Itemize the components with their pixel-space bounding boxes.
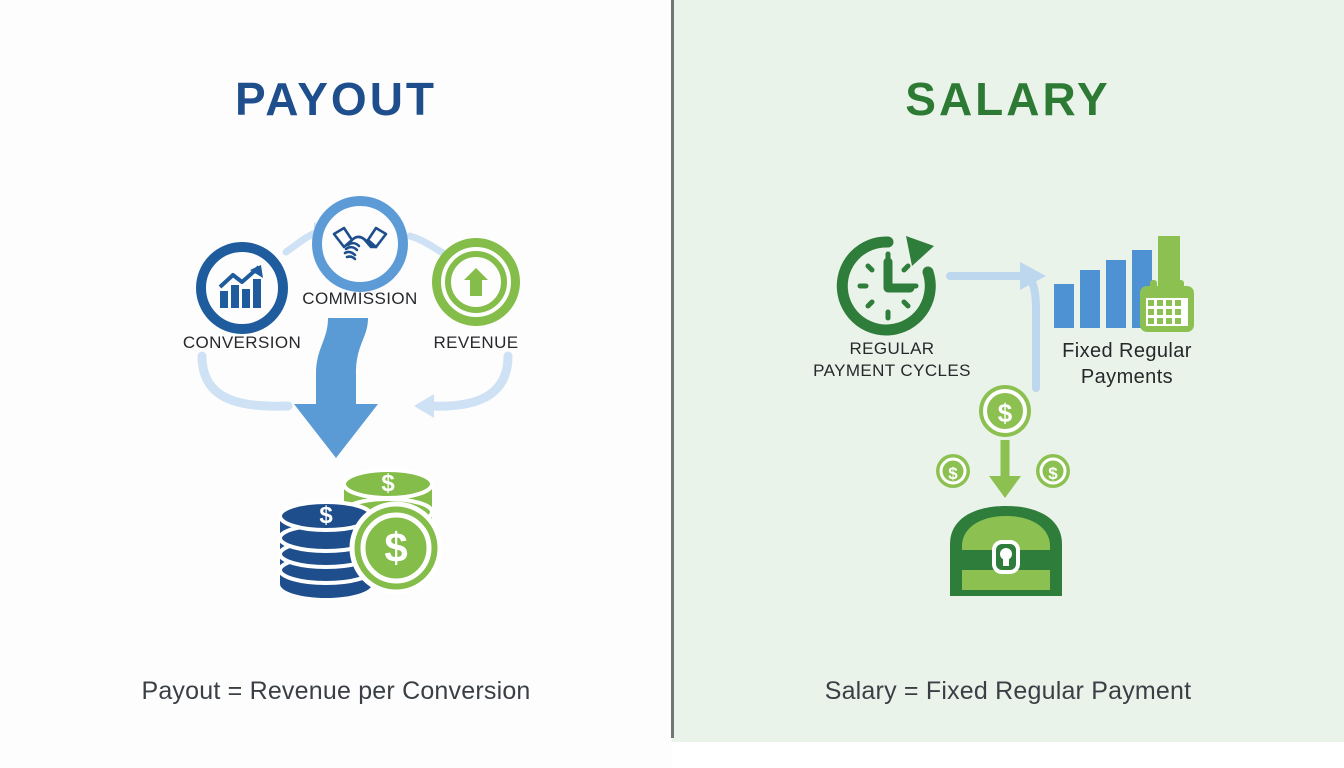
bar-chart-growth-icon bbox=[217, 265, 267, 311]
label-fixed-regular-payments: Fixed Regular Payments bbox=[1044, 338, 1210, 391]
node-commission bbox=[312, 196, 408, 292]
clock-cycle-icon bbox=[834, 232, 942, 336]
page-title-salary: SALARY bbox=[672, 72, 1344, 126]
svg-text:$: $ bbox=[1048, 464, 1058, 483]
svg-text:$: $ bbox=[998, 398, 1013, 428]
money-coins-stack-icon: $ $ $ bbox=[272, 462, 452, 602]
label-commission: COMMISSION bbox=[280, 288, 440, 310]
calendar-glyph bbox=[1140, 280, 1194, 332]
dollar-coin-icon-right: $ bbox=[1034, 452, 1072, 490]
label-line-1: REGULAR bbox=[850, 339, 935, 358]
label-line-1: Fixed Regular bbox=[1062, 340, 1192, 362]
payout-flow-down-arrow-icon bbox=[290, 318, 410, 468]
lock-glyph bbox=[994, 542, 1018, 572]
node-conversion bbox=[196, 242, 288, 334]
dollar-coin-icon-main: $ bbox=[976, 382, 1034, 440]
svg-text:$: $ bbox=[381, 470, 395, 497]
caption-salary: Salary = Fixed Regular Payment bbox=[672, 677, 1344, 706]
salary-down-arrow-icon bbox=[986, 440, 1024, 502]
bar-chart-calendar-icon bbox=[1054, 236, 1194, 332]
panel-salary: SALARY REGULAR PAYMENT CYCLES bbox=[672, 0, 1344, 768]
label-line-2: Payments bbox=[1081, 366, 1173, 388]
panel-payout: PAYOUT CONVERSION bbox=[0, 0, 672, 768]
node-revenue bbox=[432, 238, 520, 326]
handshake-icon bbox=[331, 223, 389, 265]
caption-payout: Payout = Revenue per Conversion bbox=[0, 677, 672, 706]
infographic-canvas: PAYOUT CONVERSION bbox=[0, 0, 1344, 768]
dollar-coin-icon-left: $ bbox=[934, 452, 972, 490]
up-arrow-circle-icon bbox=[463, 267, 489, 297]
svg-text:$: $ bbox=[319, 502, 333, 529]
page-title-payout: PAYOUT bbox=[0, 72, 672, 126]
svg-text:$: $ bbox=[384, 524, 407, 571]
panel-divider bbox=[671, 0, 674, 738]
treasure-chest-icon bbox=[940, 500, 1072, 600]
revenue-inner-ring bbox=[445, 251, 507, 313]
svg-text:$: $ bbox=[948, 464, 958, 483]
